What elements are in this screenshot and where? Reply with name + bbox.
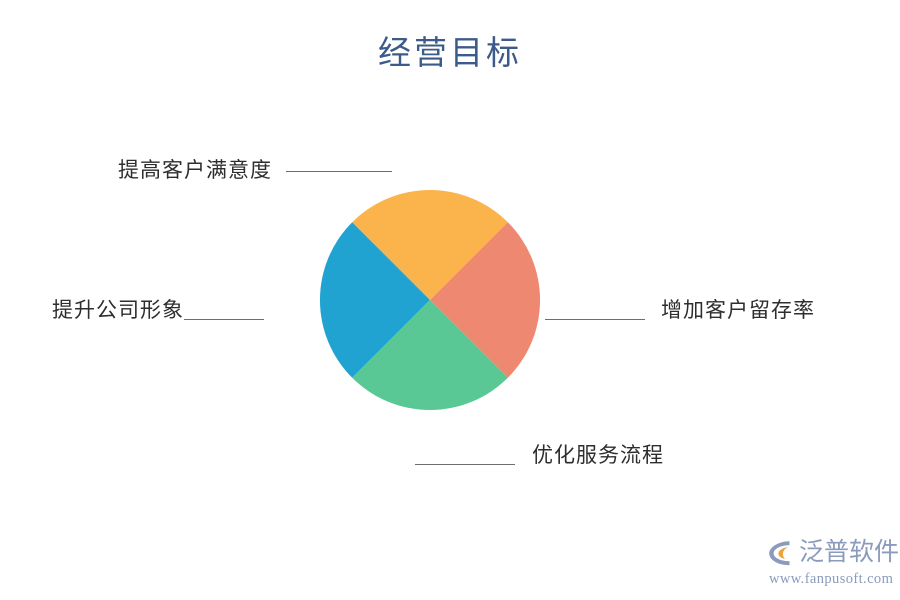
leader-line-process (415, 464, 515, 465)
pinwheel-svg (230, 120, 630, 530)
callout-company-image-label: 提升公司形象 (52, 300, 184, 321)
slide-canvas: 经营目标 提高客户满意度 提升公司形象 增加客户留存率 优化服务流程 (0, 0, 900, 600)
callout-company-image[interactable]: 提升公司形象 (52, 300, 264, 321)
brand-logo-row: 泛普软件 (766, 536, 899, 569)
callout-retention[interactable]: 增加客户留存率 (545, 300, 815, 321)
leader-line-company-image (184, 319, 264, 320)
pinwheel-diagram (230, 120, 630, 530)
brand-url: www.fanpusoft.com (769, 571, 893, 588)
fanpu-logo-icon (766, 538, 796, 568)
page-title: 经营目标 (0, 26, 900, 74)
brand-name: 泛普软件 (799, 540, 899, 565)
callout-satisfaction-label: 提高客户满意度 (118, 160, 272, 181)
callout-satisfaction[interactable]: 提高客户满意度 (118, 160, 392, 181)
callout-process[interactable]: 优化服务流程 (415, 445, 664, 466)
callout-retention-label: 增加客户留存率 (661, 300, 815, 321)
leader-line-satisfaction (286, 171, 392, 172)
brand-watermark: 泛普软件 www.fanpusoft.com (766, 536, 892, 590)
callout-process-label: 优化服务流程 (532, 445, 664, 466)
leader-line-retention (545, 319, 645, 320)
